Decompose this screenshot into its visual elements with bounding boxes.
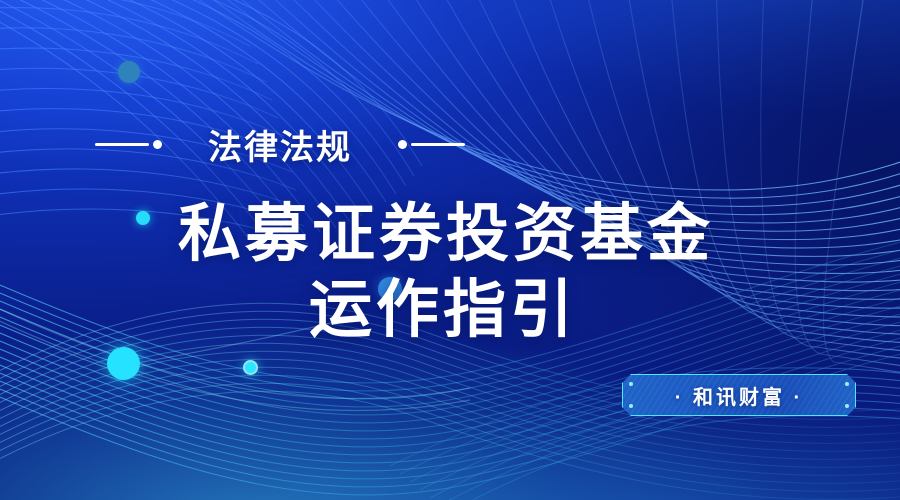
promo-banner: 法律法规 私募证券投资基金 运作指引 · 和讯财富 · <box>0 0 900 500</box>
left-rule-decoration <box>95 140 162 149</box>
brand-badge[interactable]: · 和讯财富 · <box>622 374 856 416</box>
kicker-row: 法律法规 <box>0 116 560 172</box>
cyan-circle-large-icon <box>107 347 140 380</box>
brand-badge-label: · 和讯财富 · <box>622 374 856 416</box>
rule-dot-icon <box>153 140 162 149</box>
rule-line-icon <box>95 143 149 146</box>
page-title-line-1: 私募证券投资基金 <box>0 202 880 266</box>
kicker-label: 法律法规 <box>208 120 352 169</box>
page-title: 私募证券投资基金 运作指引 <box>0 202 880 343</box>
page-title-line-2: 运作指引 <box>0 278 880 342</box>
rule-line-icon <box>411 143 465 146</box>
rule-dot-icon <box>398 140 407 149</box>
right-rule-decoration <box>398 140 465 149</box>
cyan-circle-ringed-icon <box>243 360 258 375</box>
teal-circle-icon <box>118 61 140 83</box>
